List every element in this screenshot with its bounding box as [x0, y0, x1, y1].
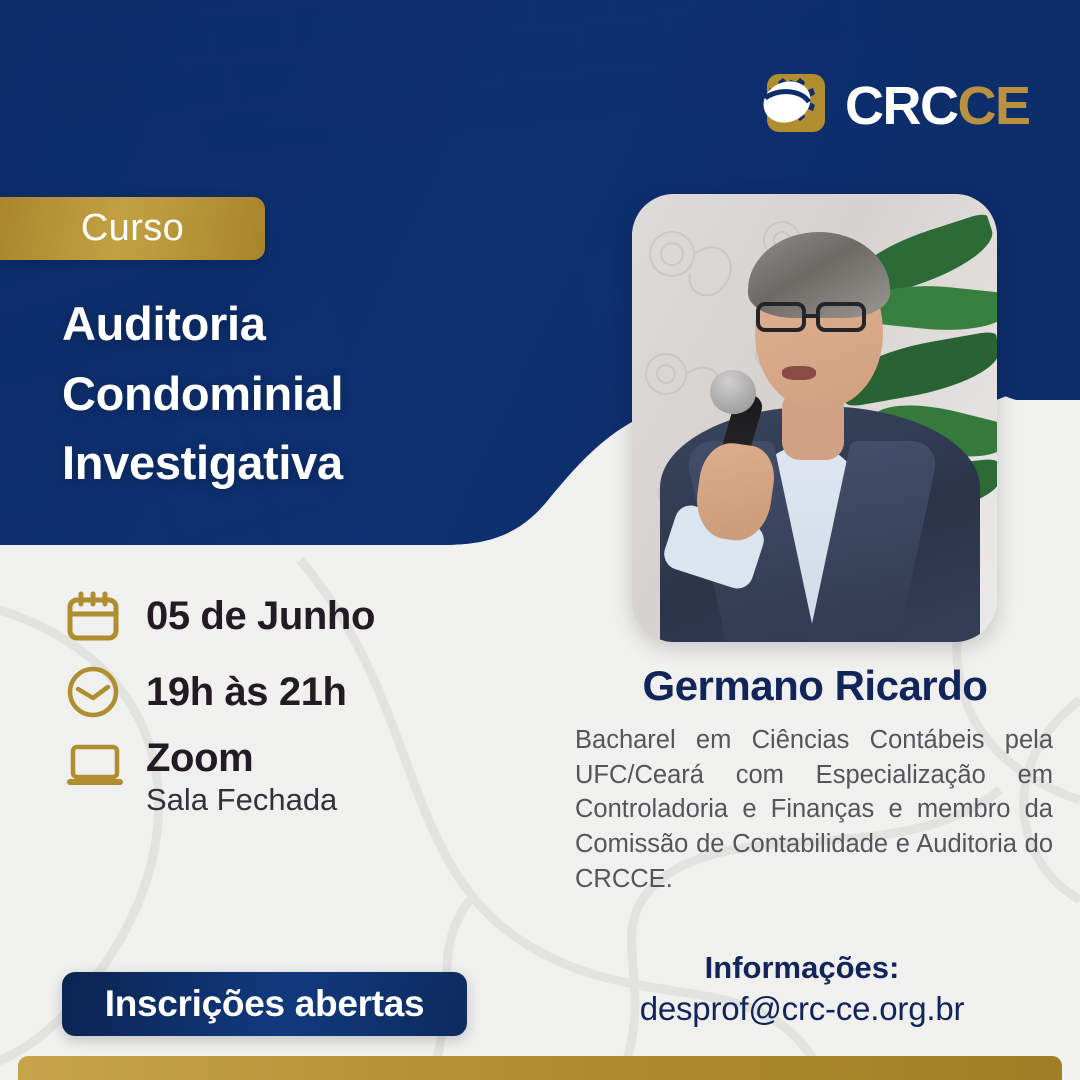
curso-badge: Curso: [0, 197, 265, 260]
event-details-list: 05 de Junho 19h às 21h Zoo: [66, 585, 375, 834]
curso-badge-label: Curso: [81, 207, 184, 250]
logo-wordmark: CRCCE: [845, 79, 1030, 133]
speaker-photo: [632, 194, 997, 642]
detail-date-value: 05 de Junho: [146, 595, 375, 637]
course-title-line-3: Investigativa: [62, 428, 343, 498]
logo-text-ce: CE: [958, 76, 1030, 136]
detail-row-platform: Zoom Sala Fechada: [66, 737, 375, 820]
detail-time-value: 19h às 21h: [146, 671, 347, 713]
registration-cta-label: Inscrições abertas: [105, 983, 425, 1025]
speaker-name: Germano Ricardo: [575, 662, 1055, 710]
calendar-icon: [66, 590, 128, 642]
contact-block: Informações: desprof@crc-ce.org.br: [582, 950, 1022, 1028]
detail-platform-note: Sala Fechada: [146, 781, 337, 820]
course-title-line-1: Auditoria: [62, 289, 343, 359]
course-title-line-2: Condominial: [62, 359, 343, 429]
crcce-logo[interactable]: CRCCE: [757, 72, 1030, 140]
course-title: Auditoria Condominial Investigativa: [62, 289, 343, 498]
laptop-icon: [66, 737, 128, 789]
eyeglasses: [754, 302, 886, 332]
contact-label: Informações:: [582, 950, 1022, 986]
speaker-bio: Bacharel em Ciências Contábeis pela UFC/…: [575, 723, 1053, 896]
clock-icon: [66, 665, 128, 719]
detail-row-time: 19h às 21h: [66, 661, 375, 723]
registration-cta-button[interactable]: Inscrições abertas: [62, 972, 467, 1036]
course-promo-poster: 1120: [0, 0, 1080, 1080]
contact-email[interactable]: desprof@crc-ce.org.br: [582, 990, 1022, 1028]
gear-globe-icon: [757, 72, 829, 140]
bottom-gold-bar: [18, 1056, 1062, 1080]
detail-row-date: 05 de Junho: [66, 585, 375, 647]
detail-platform-value: Zoom: [146, 737, 337, 779]
logo-text-crc: CRC: [845, 76, 958, 136]
